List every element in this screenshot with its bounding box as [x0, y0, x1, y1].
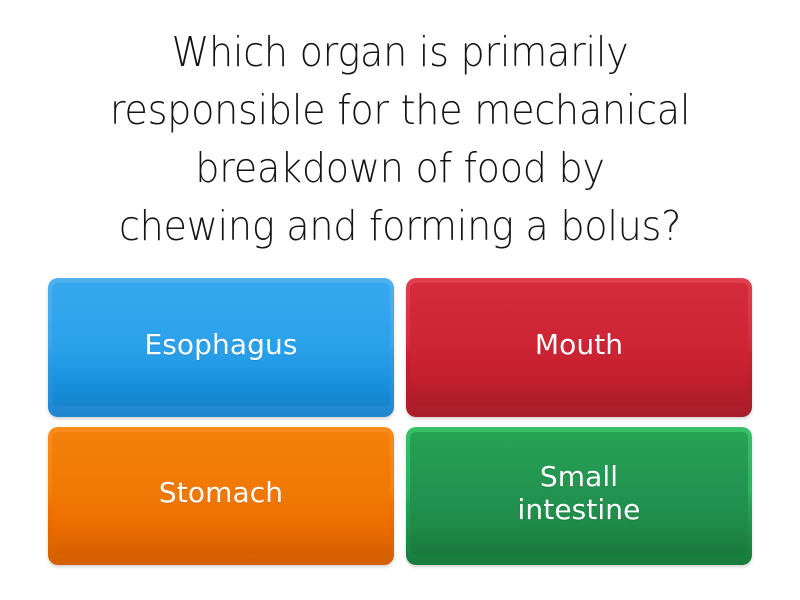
answer-option-3-label: Stomach: [145, 476, 297, 509]
answer-option-1-label: Esophagus: [130, 328, 311, 361]
answer-options-grid: Esophagus Mouth Stomach Small intestine: [0, 278, 800, 600]
answer-option-4-label: Small intestine: [504, 460, 655, 526]
answer-option-2[interactable]: Mouth: [406, 278, 752, 417]
answer-option-3[interactable]: Stomach: [48, 427, 394, 566]
answer-option-2-label: Mouth: [521, 328, 637, 361]
answer-option-1[interactable]: Esophagus: [48, 278, 394, 417]
answer-option-4[interactable]: Small intestine: [406, 427, 752, 566]
question-area: Which organ is primarily responsible for…: [0, 0, 800, 278]
question-text: Which organ is primarily responsible for…: [110, 23, 690, 255]
quiz-card: Which organ is primarily responsible for…: [0, 0, 800, 600]
